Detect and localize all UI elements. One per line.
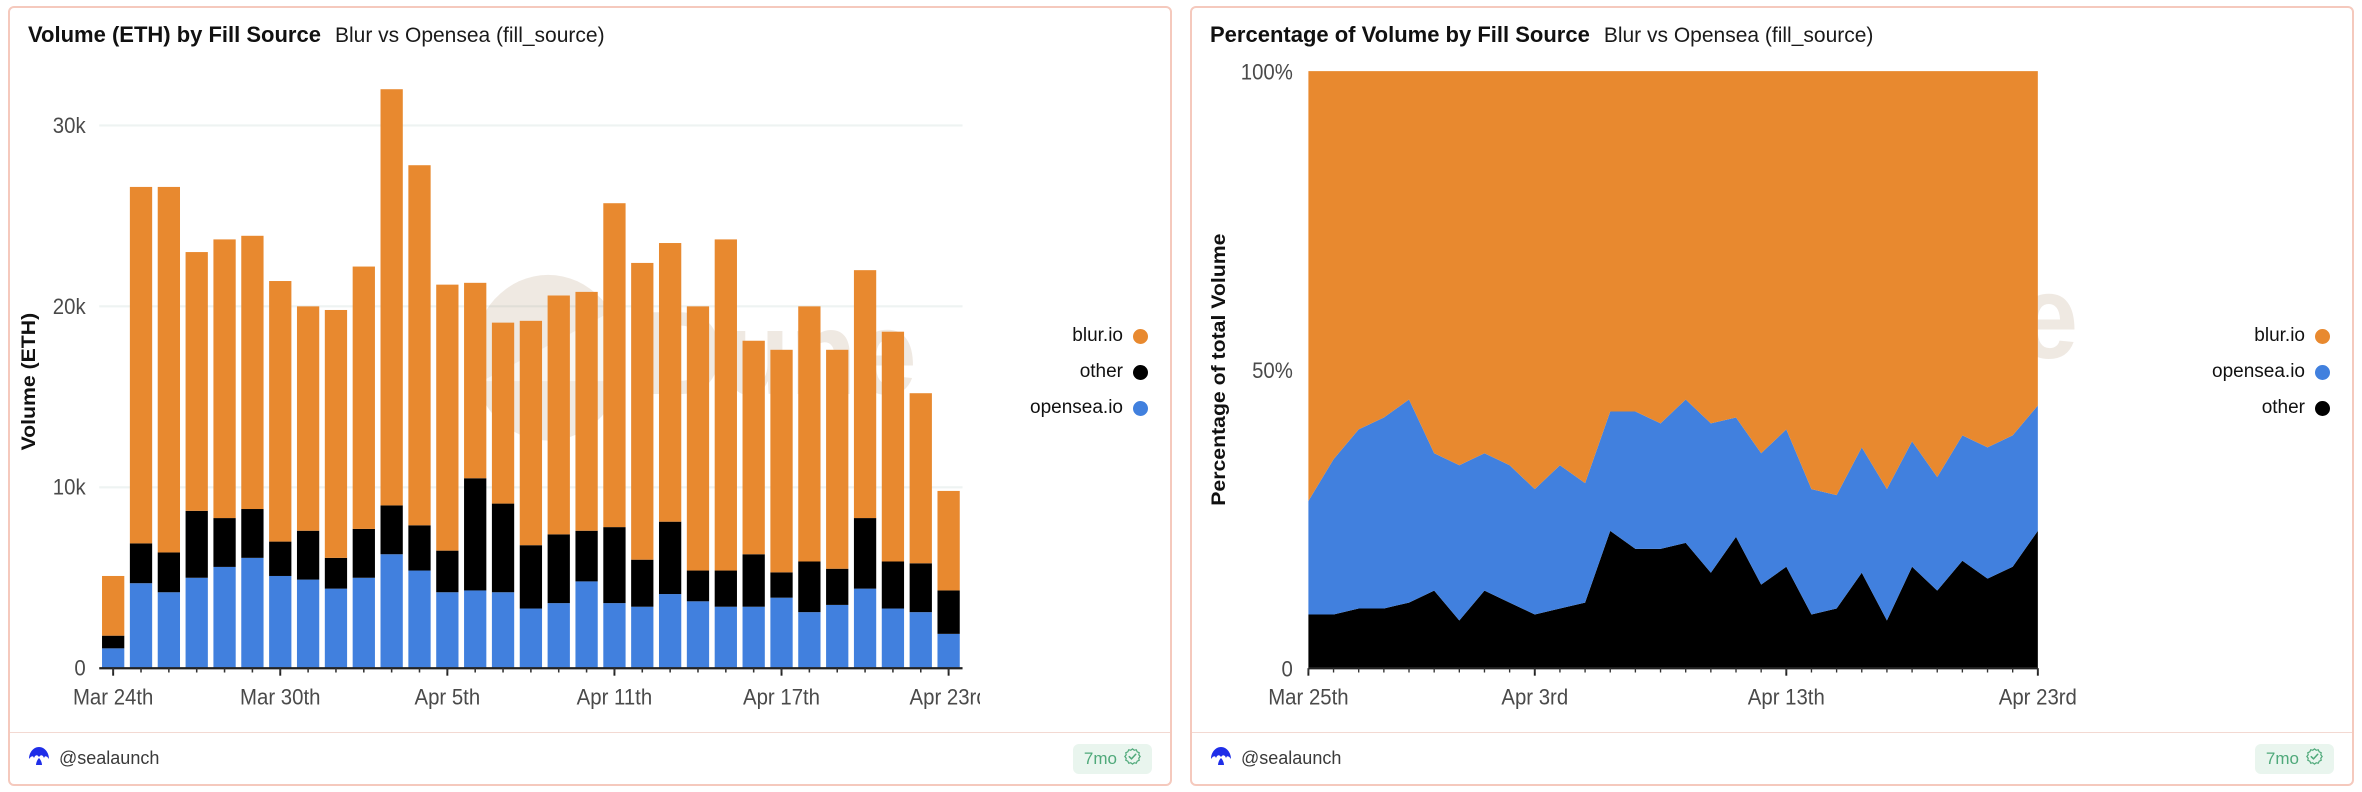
bar-group[interactable] — [520, 321, 542, 668]
bar-segment-other[interactable] — [269, 542, 291, 576]
bar-group[interactable] — [882, 332, 904, 669]
x-axis-tick-label: Apr 13th — [1748, 685, 1825, 710]
bar-group[interactable] — [854, 270, 876, 668]
legend-label: other — [2262, 397, 2305, 419]
bar-segment-opensea-io[interactable] — [910, 612, 932, 668]
bar-segment-other[interactable] — [464, 478, 486, 590]
verified-check-icon — [2306, 748, 2323, 770]
bar-segment-other[interactable] — [687, 571, 709, 602]
legend-item-blur-io[interactable]: blur.io — [1072, 325, 1148, 347]
bar-segment-blur-io[interactable] — [715, 239, 737, 570]
x-axis-tick-label: Apr 3rd — [1501, 685, 1568, 710]
panel-subtitle: Blur vs Opensea (fill_source) — [1604, 24, 1874, 48]
bar-group[interactable] — [631, 263, 653, 668]
bar-segment-blur-io[interactable] — [436, 285, 458, 551]
bar-group[interactable] — [325, 310, 347, 668]
bar-segment-blur-io[interactable] — [102, 576, 124, 636]
bar-segment-other[interactable] — [520, 545, 542, 608]
legend-color-swatch — [2315, 329, 2330, 344]
panel-volume-by-fill-source: Volume (ETH) by Fill Source Blur vs Open… — [8, 6, 1172, 786]
legend-color-swatch — [2315, 401, 2330, 416]
page-title: Volume (ETH) by Fill Source — [28, 22, 321, 48]
badge-age-label: 7mo — [1084, 749, 1117, 769]
bar-segment-blur-io[interactable] — [492, 323, 514, 504]
x-axis-tick-label: Apr 5th — [415, 685, 481, 710]
bar-segment-blur-io[interactable] — [575, 292, 597, 531]
legend-color-swatch — [1133, 365, 1148, 380]
bar-group[interactable] — [548, 296, 570, 669]
bar-group[interactable] — [130, 187, 152, 668]
verified-check-icon — [1124, 748, 1141, 770]
y-axis-tick-label: 10k — [53, 475, 86, 500]
legend-label: blur.io — [2254, 325, 2305, 347]
bar-segment-blur-io[interactable] — [408, 165, 430, 525]
bar-segment-opensea-io[interactable] — [575, 581, 597, 668]
x-axis-tick-label: Mar 30th — [240, 685, 320, 710]
bar-segment-other[interactable] — [102, 636, 124, 649]
bar-segment-other[interactable] — [882, 561, 904, 608]
bar-segment-opensea-io[interactable] — [102, 648, 124, 668]
bar-segment-blur-io[interactable] — [213, 239, 235, 518]
bar-group[interactable] — [743, 341, 765, 669]
bar-group[interactable] — [937, 491, 959, 668]
panel-header: Percentage of Volume by Fill Source Blur… — [1192, 8, 2352, 52]
legend-label: other — [1080, 361, 1123, 383]
legend-label: blur.io — [1072, 325, 1123, 347]
bar-segment-other[interactable] — [353, 529, 375, 578]
legend-item-other[interactable]: other — [2262, 397, 2330, 419]
bar-segment-opensea-io[interactable] — [882, 609, 904, 669]
legend-item-other[interactable]: other — [1080, 361, 1148, 383]
bar-segment-opensea-io[interactable] — [269, 576, 291, 668]
bar-segment-other[interactable] — [381, 505, 403, 554]
y-axis-tick-label: 30k — [53, 113, 86, 138]
bar-segment-opensea-io[interactable] — [826, 605, 848, 668]
bar-segment-other[interactable] — [548, 534, 570, 603]
bar-segment-opensea-io[interactable] — [158, 592, 180, 668]
bar-group[interactable] — [241, 236, 263, 668]
bar-group[interactable] — [269, 281, 291, 668]
bar-segment-blur-io[interactable] — [631, 263, 653, 560]
status-badge: 7mo — [2255, 744, 2334, 774]
bar-group[interactable] — [659, 243, 681, 668]
bar-group[interactable] — [408, 165, 430, 668]
bar-segment-blur-io[interactable] — [603, 203, 625, 527]
status-badge: 7mo — [1073, 744, 1152, 774]
bar-segment-opensea-io[interactable] — [213, 567, 235, 668]
bar-segment-other[interactable] — [130, 543, 152, 583]
bar-segment-blur-io[interactable] — [798, 306, 820, 561]
bar-segment-blur-io[interactable] — [882, 332, 904, 562]
panel-body: Dune010k20k30kVolume (ETH)Mar 24thMar 30… — [10, 52, 1170, 732]
author-credit[interactable]: @sealaunch — [1210, 746, 1341, 771]
bar-segment-opensea-io[interactable] — [659, 594, 681, 668]
bar-segment-opensea-io[interactable] — [548, 603, 570, 668]
bar-segment-blur-io[interactable] — [297, 306, 319, 530]
bar-segment-opensea-io[interactable] — [408, 571, 430, 669]
x-axis-tick-label: Apr 11th — [577, 685, 652, 710]
bar-segment-other[interactable] — [158, 552, 180, 592]
bar-segment-other[interactable] — [408, 525, 430, 570]
x-axis-tick-label: Apr 23rd — [910, 685, 980, 710]
bar-segment-opensea-io[interactable] — [743, 607, 765, 669]
bar-group[interactable] — [297, 306, 319, 668]
bar-segment-opensea-io[interactable] — [770, 598, 792, 669]
bar-segment-blur-io[interactable] — [770, 350, 792, 573]
bar-segment-other[interactable] — [186, 511, 208, 578]
chart-legend: blur.iootheropensea.io — [980, 52, 1170, 692]
bar-segment-blur-io[interactable] — [659, 243, 681, 522]
bar-segment-blur-io[interactable] — [186, 252, 208, 511]
panel-percentage-by-fill-source: Percentage of Volume by Fill Source Blur… — [1190, 6, 2354, 786]
panel-header: Volume (ETH) by Fill Source Blur vs Open… — [10, 8, 1170, 52]
bar-segment-opensea-io[interactable] — [464, 590, 486, 668]
bar-group[interactable] — [715, 239, 737, 668]
bar-segment-blur-io[interactable] — [241, 236, 263, 509]
bar-segment-opensea-io[interactable] — [937, 634, 959, 668]
bar-chart-svg[interactable]: Dune010k20k30kVolume (ETH)Mar 24thMar 30… — [10, 52, 980, 732]
bar-group[interactable] — [575, 292, 597, 668]
bar-group[interactable] — [464, 283, 486, 668]
bar-segment-other[interactable] — [575, 531, 597, 582]
bar-segment-other[interactable] — [659, 522, 681, 594]
bar-segment-opensea-io[interactable] — [297, 580, 319, 669]
bar-group[interactable] — [436, 285, 458, 669]
x-axis-tick-label: Apr 23rd — [1999, 685, 2077, 710]
bar-segment-other[interactable] — [798, 561, 820, 612]
bar-segment-other[interactable] — [436, 551, 458, 593]
bar-segment-opensea-io[interactable] — [353, 578, 375, 668]
bar-segment-blur-io[interactable] — [937, 491, 959, 591]
bar-group[interactable] — [770, 350, 792, 668]
bar-group[interactable] — [492, 323, 514, 669]
panel-footer: @sealaunch 7mo — [1192, 732, 2352, 784]
legend-item-opensea-io[interactable]: opensea.io — [1030, 397, 1148, 419]
bar-segment-opensea-io[interactable] — [603, 603, 625, 668]
sealaunch-logo-icon — [1210, 746, 1232, 771]
bar-segment-opensea-io[interactable] — [854, 589, 876, 669]
y-axis-tick-label: 20k — [53, 294, 86, 319]
panel-footer: @sealaunch 7mo — [10, 732, 1170, 784]
legend-color-swatch — [1133, 401, 1148, 416]
bar-segment-opensea-io[interactable] — [492, 592, 514, 668]
bar-segment-opensea-io[interactable] — [798, 612, 820, 668]
bar-segment-blur-io[interactable] — [910, 393, 932, 563]
bar-group[interactable] — [102, 576, 124, 668]
bar-segment-blur-io[interactable] — [520, 321, 542, 545]
y-axis-title: Percentage of total Volume — [1209, 234, 1230, 506]
bar-group[interactable] — [910, 393, 932, 668]
bar-segment-opensea-io[interactable] — [631, 607, 653, 669]
bar-segment-blur-io[interactable] — [743, 341, 765, 555]
bar-segment-other[interactable] — [826, 569, 848, 605]
page-title: Percentage of Volume by Fill Source — [1210, 22, 1590, 48]
bar-group[interactable] — [687, 306, 709, 668]
author-credit[interactable]: @sealaunch — [28, 746, 159, 771]
bar-segment-blur-io[interactable] — [158, 187, 180, 553]
bar-segment-blur-io[interactable] — [826, 350, 848, 569]
bar-segment-other[interactable] — [241, 509, 263, 558]
bar-group[interactable] — [826, 350, 848, 668]
bar-segment-other[interactable] — [910, 563, 932, 612]
bar-segment-blur-io[interactable] — [381, 89, 403, 505]
bar-segment-opensea-io[interactable] — [130, 583, 152, 668]
panel-body: Dune050%100%Percentage of total VolumeMa… — [1192, 52, 2352, 732]
bar-segment-blur-io[interactable] — [854, 270, 876, 518]
y-axis-tick-label: 0 — [1282, 657, 1293, 682]
bar-segment-other[interactable] — [325, 558, 347, 589]
bar-segment-blur-io[interactable] — [353, 267, 375, 529]
bar-segment-other[interactable] — [492, 504, 514, 593]
legend-color-swatch — [2315, 365, 2330, 380]
legend-label: opensea.io — [1030, 397, 1123, 419]
area-chart-svg[interactable]: Dune050%100%Percentage of total VolumeMa… — [1192, 52, 2162, 732]
bar-segment-opensea-io[interactable] — [687, 601, 709, 668]
bar-segment-opensea-io[interactable] — [436, 592, 458, 668]
author-handle: @sealaunch — [1241, 748, 1341, 769]
sealaunch-logo-icon — [28, 746, 50, 771]
x-axis-tick-label: Apr 17th — [743, 685, 820, 710]
chart-legend: blur.ioopensea.ioother — [2162, 52, 2352, 692]
panel-subtitle: Blur vs Opensea (fill_source) — [335, 24, 605, 48]
bar-segment-other[interactable] — [297, 531, 319, 580]
legend-item-opensea-io[interactable]: opensea.io — [2212, 361, 2330, 383]
area-chart[interactable]: Dune050%100%Percentage of total VolumeMa… — [1192, 52, 2162, 732]
bar-segment-other[interactable] — [937, 590, 959, 633]
bar-chart[interactable]: Dune010k20k30kVolume (ETH)Mar 24thMar 30… — [10, 52, 980, 732]
bar-segment-other[interactable] — [603, 527, 625, 603]
bar-segment-opensea-io[interactable] — [325, 589, 347, 669]
legend-item-blur-io[interactable]: blur.io — [2254, 325, 2330, 347]
bar-segment-blur-io[interactable] — [548, 296, 570, 535]
bar-segment-other[interactable] — [854, 518, 876, 589]
bar-group[interactable] — [213, 239, 235, 668]
bar-group[interactable] — [603, 203, 625, 668]
x-axis-tick-label: Mar 25th — [1268, 685, 1348, 710]
bar-segment-other[interactable] — [631, 560, 653, 607]
bar-group[interactable] — [798, 306, 820, 668]
bar-segment-opensea-io[interactable] — [186, 578, 208, 668]
x-axis-tick-label: Mar 24th — [73, 685, 153, 710]
bar-segment-opensea-io[interactable] — [520, 609, 542, 669]
bar-segment-opensea-io[interactable] — [381, 554, 403, 668]
author-handle: @sealaunch — [59, 748, 159, 769]
y-axis-title: Volume (ETH) — [19, 313, 40, 451]
bar-segment-blur-io[interactable] — [687, 306, 709, 570]
bar-group[interactable] — [353, 267, 375, 669]
dashboard: Volume (ETH) by Fill Source Blur vs Open… — [0, 0, 2362, 792]
bar-segment-blur-io[interactable] — [464, 283, 486, 478]
y-axis-tick-label: 0 — [74, 656, 85, 681]
bar-segment-other[interactable] — [715, 571, 737, 607]
legend-color-swatch — [1133, 329, 1148, 344]
legend-label: opensea.io — [2212, 361, 2305, 383]
bar-segment-other[interactable] — [770, 572, 792, 597]
bar-segment-opensea-io[interactable] — [715, 607, 737, 669]
bar-segment-blur-io[interactable] — [325, 310, 347, 558]
bar-segment-blur-io[interactable] — [130, 187, 152, 543]
badge-age-label: 7mo — [2266, 749, 2299, 769]
bar-segment-other[interactable] — [213, 518, 235, 567]
bar-group[interactable] — [381, 89, 403, 668]
bar-group[interactable] — [186, 252, 208, 668]
y-axis-tick-label: 50% — [1252, 358, 1293, 383]
bar-segment-blur-io[interactable] — [269, 281, 291, 542]
y-axis-tick-label: 100% — [1241, 60, 1293, 85]
bar-segment-opensea-io[interactable] — [241, 558, 263, 668]
bar-segment-other[interactable] — [743, 554, 765, 606]
bar-group[interactable] — [158, 187, 180, 668]
